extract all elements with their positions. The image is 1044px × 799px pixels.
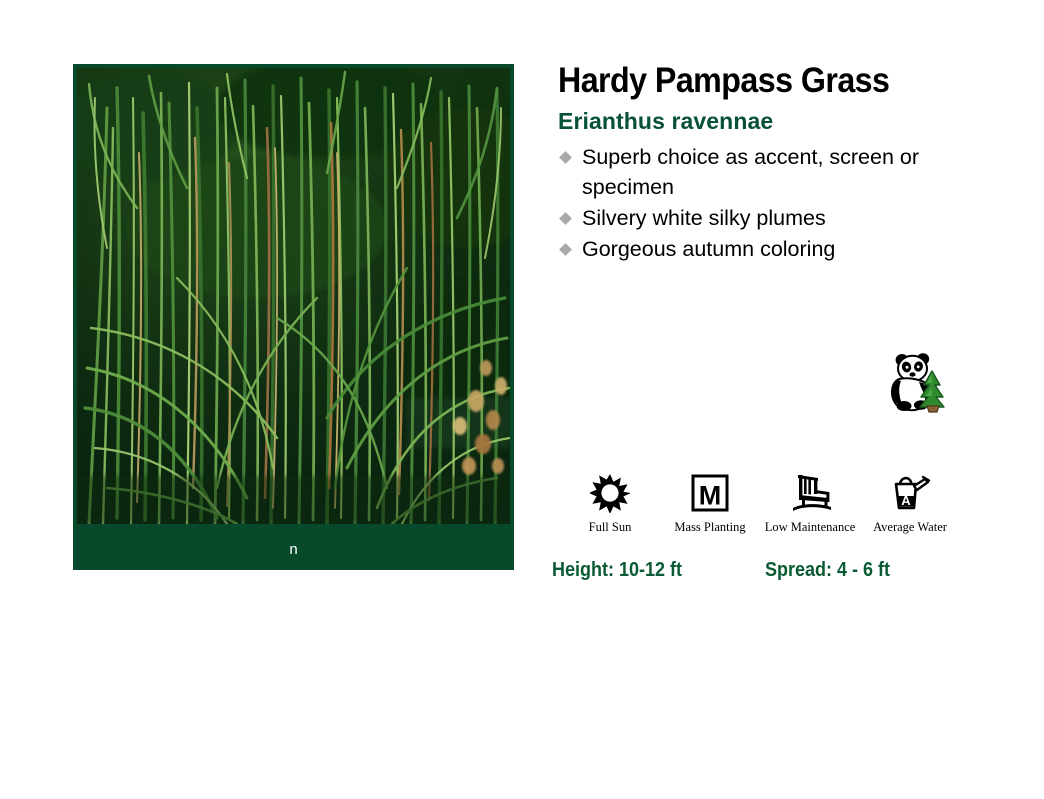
- plant-feature-list: Superb choice as accent, screen or speci…: [558, 142, 988, 264]
- care-icon-average-water: A Average Water: [860, 470, 960, 534]
- icon-glyph-wrapper: [788, 470, 832, 516]
- diamond-bullet-icon: [559, 151, 572, 164]
- full-sun-icon: [590, 473, 630, 513]
- panda-tree-logo-icon: [886, 349, 948, 413]
- plant-common-name: Hardy Pampass Grass: [558, 60, 954, 102]
- photo-caption-text: n: [289, 542, 297, 557]
- plant-botanical-name: Erianthus ravennae: [558, 106, 988, 136]
- care-icon-row: Full Sun M Mass Planting: [560, 470, 960, 534]
- care-icon-low-maintenance: Low Maintenance: [760, 470, 860, 534]
- care-icon-label: Average Water: [873, 521, 947, 534]
- diamond-bullet-icon: [559, 243, 572, 256]
- care-icon-mass-planting: M Mass Planting: [660, 470, 760, 534]
- mass-planting-icon: M: [691, 474, 729, 512]
- svg-text:M: M: [699, 481, 722, 511]
- list-item: Superb choice as accent, screen or speci…: [558, 142, 988, 202]
- care-icon-full-sun: Full Sun: [560, 470, 660, 534]
- average-water-icon: A: [889, 472, 931, 514]
- photo-caption-bar: n: [73, 528, 514, 570]
- panda-tree-logo: [886, 349, 948, 413]
- plant-height-value: Height: 10-12 ft: [552, 558, 682, 582]
- feature-text: Superb choice as accent, screen or speci…: [582, 145, 919, 199]
- plant-photo-panel: n: [73, 64, 514, 570]
- low-maintenance-icon: [788, 473, 832, 513]
- plant-photograph: [77, 68, 510, 524]
- list-item: Silvery white silky plumes: [558, 203, 988, 233]
- care-icon-label: Low Maintenance: [765, 521, 856, 534]
- feature-text: Gorgeous autumn coloring: [582, 237, 835, 261]
- feature-text: Silvery white silky plumes: [582, 206, 826, 230]
- svg-text:A: A: [901, 493, 911, 508]
- ornamental-grass-photo: [77, 68, 510, 524]
- care-icon-label: Full Sun: [589, 521, 632, 534]
- icon-glyph-wrapper: A: [889, 470, 931, 516]
- plant-spread-value: Spread: 4 - 6 ft: [765, 558, 890, 582]
- list-item: Gorgeous autumn coloring: [558, 234, 988, 264]
- plant-info-column: Hardy Pampass Grass Erianthus ravennae S…: [558, 60, 988, 265]
- care-icon-label: Mass Planting: [674, 521, 745, 534]
- diamond-bullet-icon: [559, 212, 572, 225]
- icon-glyph-wrapper: M: [691, 470, 729, 516]
- icon-glyph-wrapper: [590, 470, 630, 516]
